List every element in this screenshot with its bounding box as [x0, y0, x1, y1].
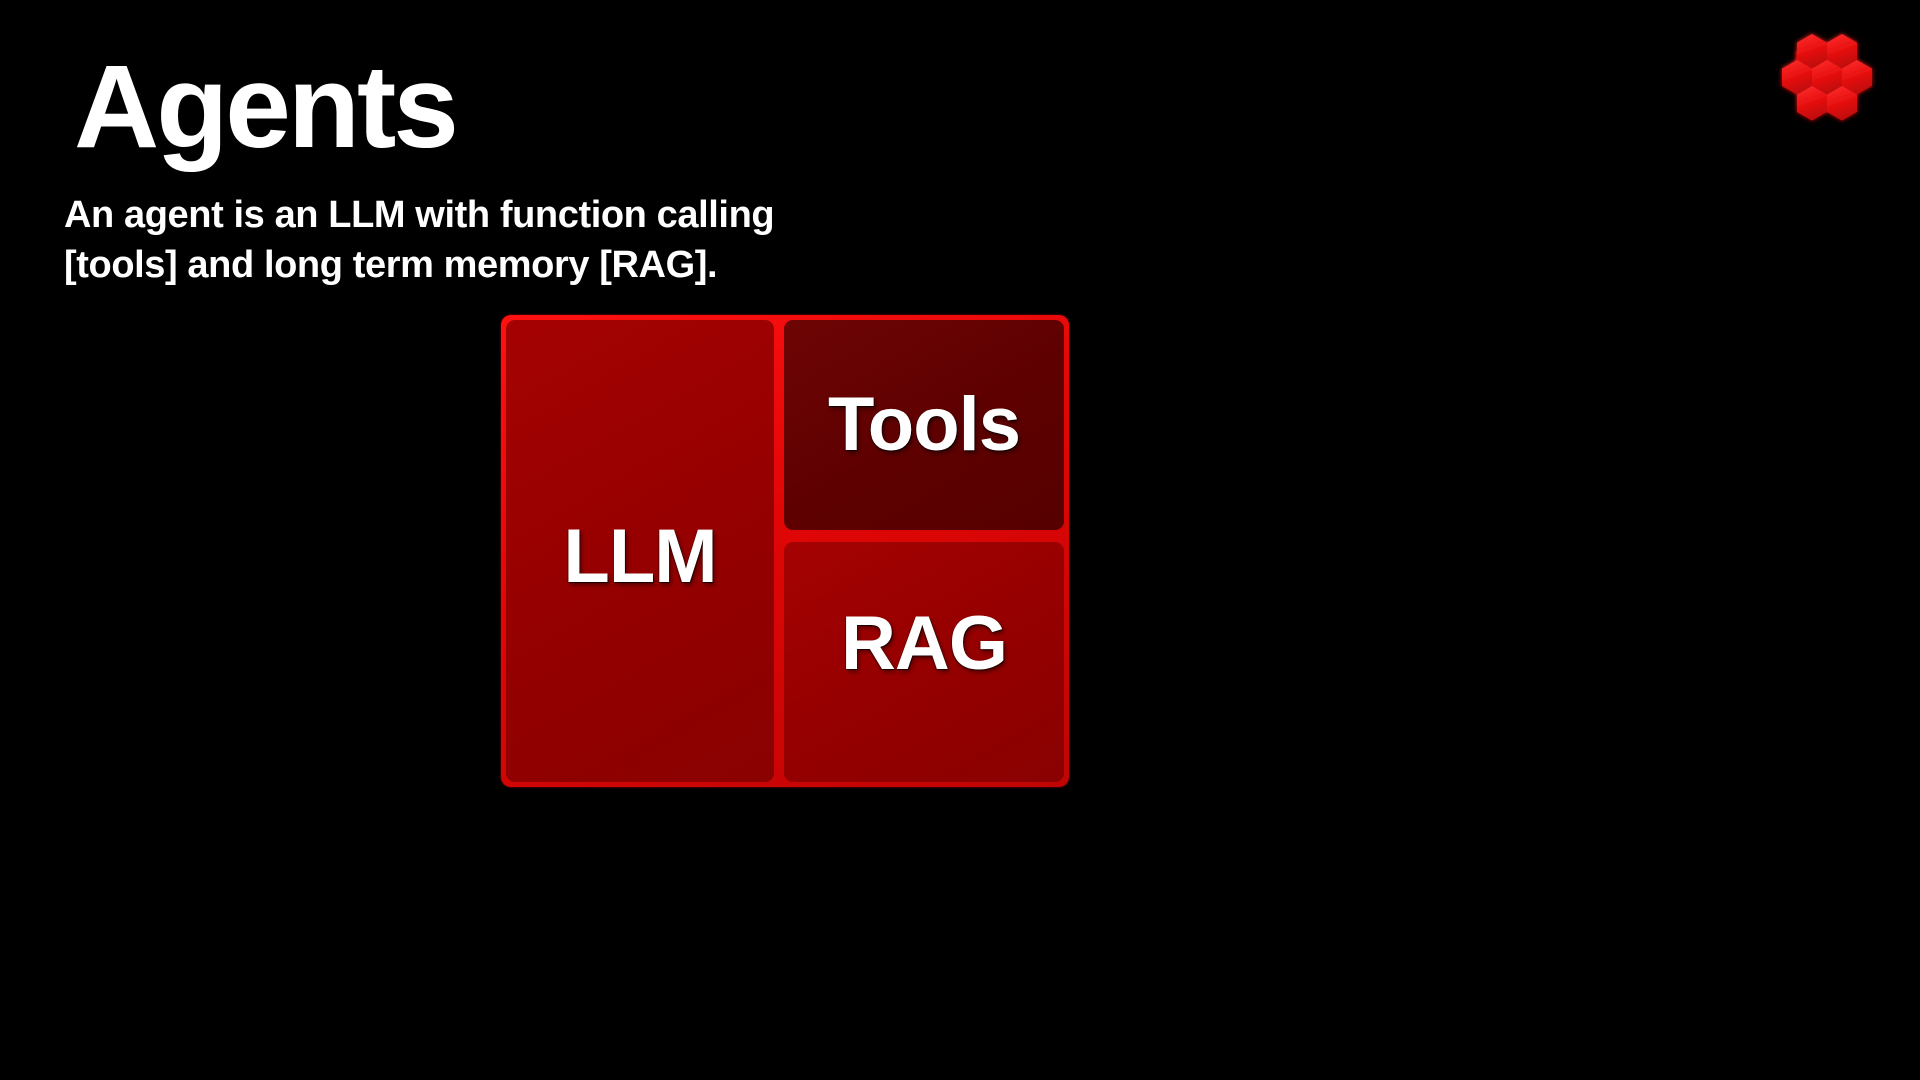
slide-canvas: Agents An agent is an LLM with function …	[0, 0, 1920, 1080]
diagram-right-column: Tools RAG	[784, 320, 1064, 782]
page-title: Agents	[74, 48, 456, 166]
agent-architecture-diagram: LLM Tools RAG	[501, 315, 1069, 787]
slide-subtitle: An agent is an LLM with function calling…	[64, 190, 774, 290]
panel-tools-label: Tools	[828, 387, 1020, 463]
hexagon-cluster-logo	[1772, 24, 1882, 134]
panel-rag[interactable]: RAG	[784, 542, 1064, 782]
panel-tools[interactable]: Tools	[784, 320, 1064, 530]
panel-llm[interactable]: LLM	[506, 320, 774, 782]
panel-llm-label: LLM	[563, 519, 716, 595]
diagram-left-column: LLM	[506, 320, 774, 782]
panel-rag-label: RAG	[841, 606, 1007, 682]
